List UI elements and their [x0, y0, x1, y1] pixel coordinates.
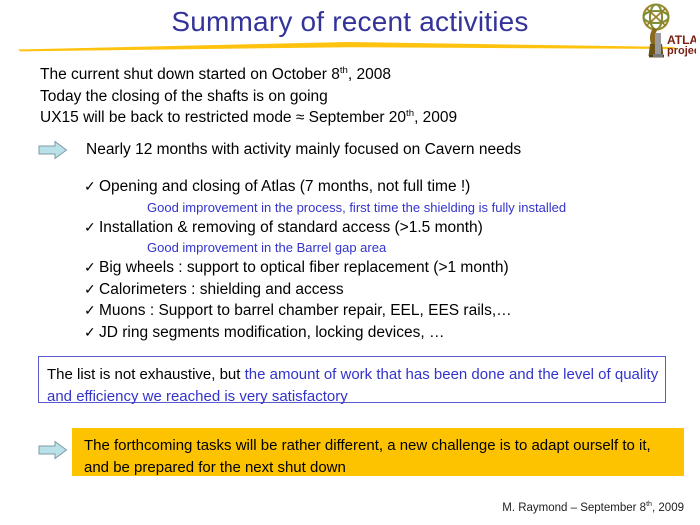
atlas-project-logo: ATLAS project	[630, 0, 696, 58]
arrow-bullet-text: Nearly 12 months with activity mainly fo…	[86, 141, 521, 159]
list-item-note: Good improvement in the process, first t…	[84, 198, 664, 217]
intro-line-3-post: , 2009	[414, 109, 457, 126]
check-icon: ✓	[84, 257, 99, 279]
right-arrow-icon	[38, 140, 68, 160]
forthcoming-tasks-box: The forthcoming tasks will be rather dif…	[72, 428, 684, 476]
list-item-label: Muons : Support to barrel chamber repair…	[99, 300, 512, 322]
list-item: ✓ Calorimeters : shielding and access	[84, 279, 664, 301]
list-item: ✓ Muons : Support to barrel chamber repa…	[84, 300, 664, 322]
forthcoming-tasks-text: The forthcoming tasks will be rather dif…	[84, 435, 678, 479]
summary-callout-text: The list is not exhaustive, but the amou…	[47, 364, 661, 408]
intro-line-3: UX15 will be back to restricted mode ≈ S…	[40, 107, 660, 129]
right-arrow-icon	[38, 440, 68, 460]
intro-line-1-sup: th	[340, 65, 348, 76]
intro-line-1-pre: The current shut down started on October…	[40, 66, 340, 83]
list-item: ✓ Opening and closing of Atlas (7 months…	[84, 176, 664, 198]
arrow-bullet-row: Nearly 12 months with activity mainly fo…	[38, 140, 521, 160]
list-item-label: JD ring segments modification, locking d…	[99, 322, 444, 344]
gold-divider-line	[18, 38, 678, 56]
check-icon: ✓	[84, 322, 99, 344]
list-item-label: Calorimeters : shielding and access	[99, 279, 344, 301]
check-icon: ✓	[84, 279, 99, 301]
check-icon: ✓	[84, 176, 99, 198]
list-item-label: Big wheels : support to optical fiber re…	[99, 257, 509, 279]
check-icon: ✓	[84, 300, 99, 322]
intro-line-1: The current shut down started on October…	[40, 64, 660, 86]
check-list: ✓ Opening and closing of Atlas (7 months…	[84, 176, 664, 343]
list-item: ✓ JD ring segments modification, locking…	[84, 322, 664, 344]
check-icon: ✓	[84, 217, 99, 239]
intro-paragraph: The current shut down started on October…	[40, 64, 660, 129]
footer-author-post: , 2009	[652, 502, 684, 514]
intro-line-3-sup: th	[406, 108, 414, 119]
footer-author-pre: M. Raymond – September 8	[502, 502, 646, 514]
list-item: ✓ Big wheels : support to optical fiber …	[84, 257, 664, 279]
list-item: ✓ Installation & removing of standard ac…	[84, 217, 664, 239]
intro-line-2: Today the closing of the shafts is on go…	[40, 86, 660, 108]
list-item-note: Good improvement in the Barrel gap area	[84, 238, 664, 257]
list-item-label: Opening and closing of Atlas (7 months, …	[99, 176, 470, 198]
intro-line-1-post: , 2008	[348, 66, 391, 83]
footer-credit: M. Raymond – September 8th, 2009	[502, 502, 684, 514]
page-title: Summary of recent activities	[0, 6, 700, 38]
summary-text-black: The list is not exhaustive, but	[47, 366, 245, 383]
logo-wordmark-project: project	[667, 45, 696, 57]
summary-callout-box: The list is not exhaustive, but the amou…	[38, 356, 666, 403]
intro-line-3-pre: UX15 will be back to restricted mode ≈ S…	[40, 109, 406, 126]
list-item-label: Installation & removing of standard acce…	[99, 217, 483, 239]
